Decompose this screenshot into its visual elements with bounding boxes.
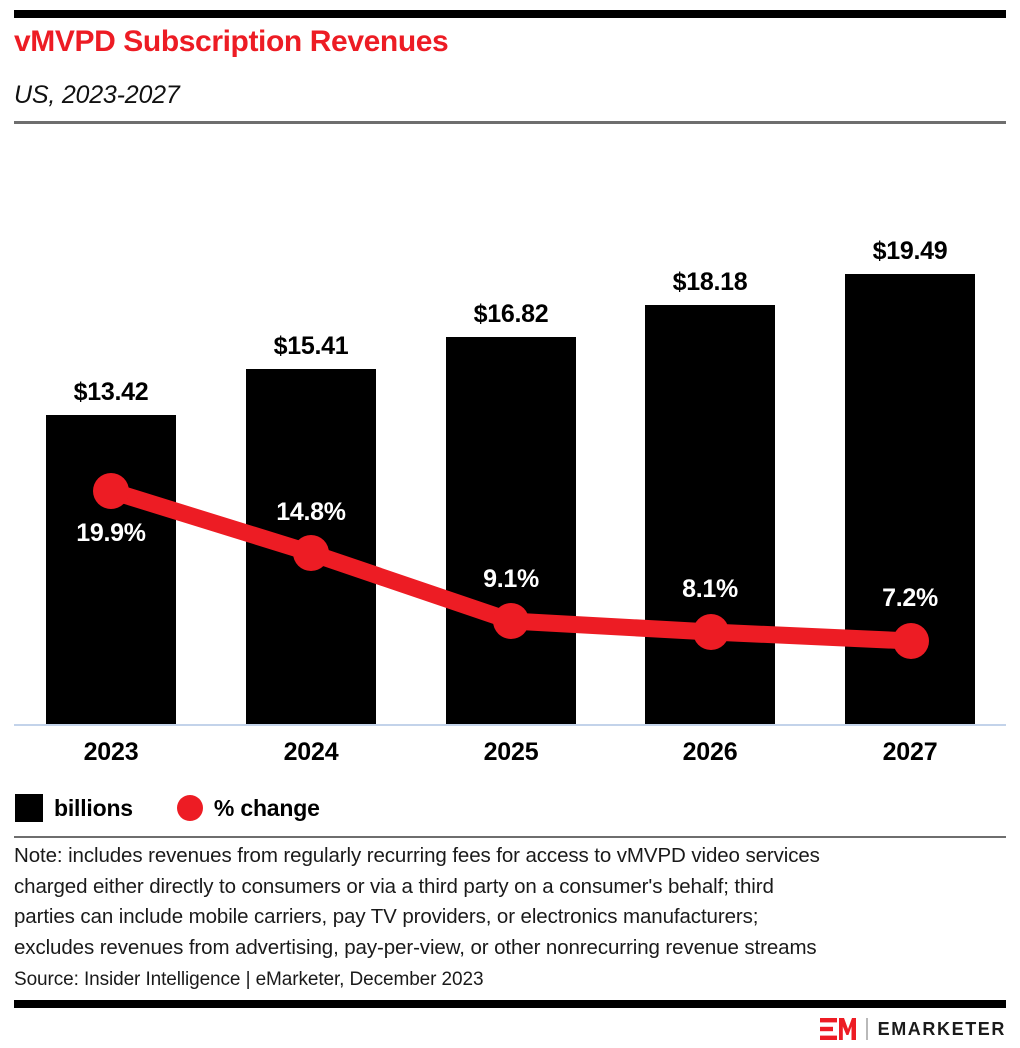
source-line: Source: Insider Intelligence | eMarketer… bbox=[14, 965, 1010, 995]
legend-item-billions: billions bbox=[15, 794, 133, 822]
line-marker-2023 bbox=[93, 473, 129, 509]
legend-label-billions: billions bbox=[54, 795, 133, 822]
line-marker-2025 bbox=[493, 603, 529, 639]
note-line-4: excludes revenues from advertising, pay-… bbox=[14, 933, 1010, 964]
x-tick-2023: 2023 bbox=[46, 738, 176, 767]
brand-name: EMARKETER bbox=[878, 1019, 1006, 1040]
pct-label-2027: 7.2% bbox=[845, 584, 975, 613]
bar-2025 bbox=[446, 337, 576, 724]
bar-label-2027: $19.49 bbox=[845, 237, 975, 266]
bar-label-2024: $15.41 bbox=[246, 332, 376, 361]
bar-2024 bbox=[246, 369, 376, 724]
legend-square-icon bbox=[15, 794, 43, 822]
legend-item-percent-change: % change bbox=[177, 795, 320, 822]
legend-label-percent-change: % change bbox=[214, 795, 320, 822]
bar-2026 bbox=[645, 305, 775, 724]
footer-rule bbox=[14, 1000, 1006, 1008]
brand-logo: EMARKETER bbox=[820, 1016, 1006, 1042]
x-axis-line bbox=[14, 724, 1006, 726]
bar-label-2025: $16.82 bbox=[446, 300, 576, 329]
line-marker-2026 bbox=[693, 614, 729, 650]
pct-label-2023: 19.9% bbox=[46, 519, 176, 548]
line-marker-2027 bbox=[893, 623, 929, 659]
brand-separator bbox=[866, 1018, 868, 1040]
line-marker-2024 bbox=[293, 535, 329, 571]
x-tick-2025: 2025 bbox=[446, 738, 576, 767]
bar-2027 bbox=[845, 274, 975, 724]
bar-2023 bbox=[46, 415, 176, 724]
top-rule bbox=[14, 10, 1006, 18]
bar-label-2023: $13.42 bbox=[46, 378, 176, 407]
note-line-2: charged either directly to consumers or … bbox=[14, 872, 1010, 903]
header-divider bbox=[14, 121, 1006, 124]
page-title: vMVPD Subscription Revenues bbox=[14, 25, 448, 59]
chart-legend: billions % change bbox=[15, 792, 364, 824]
note-line-3: parties can include mobile carriers, pay… bbox=[14, 902, 1010, 933]
notes-divider bbox=[14, 836, 1006, 838]
pct-label-2025: 9.1% bbox=[446, 565, 576, 594]
note-line-1: Note: includes revenues from regularly r… bbox=[14, 841, 1010, 872]
pct-label-2024: 14.8% bbox=[246, 498, 376, 527]
x-tick-2026: 2026 bbox=[645, 738, 775, 767]
legend-circle-icon bbox=[177, 795, 203, 821]
pct-label-2026: 8.1% bbox=[645, 575, 775, 604]
x-tick-2027: 2027 bbox=[845, 738, 975, 767]
bar-label-2026: $18.18 bbox=[645, 268, 775, 297]
x-tick-2024: 2024 bbox=[246, 738, 376, 767]
notes-block: Note: includes revenues from regularly r… bbox=[14, 841, 1010, 995]
chart-page: vMVPD Subscription Revenues US, 2023-202… bbox=[0, 0, 1020, 1048]
page-subtitle: US, 2023-2027 bbox=[14, 81, 180, 110]
emarketer-mark-icon bbox=[820, 1017, 856, 1041]
